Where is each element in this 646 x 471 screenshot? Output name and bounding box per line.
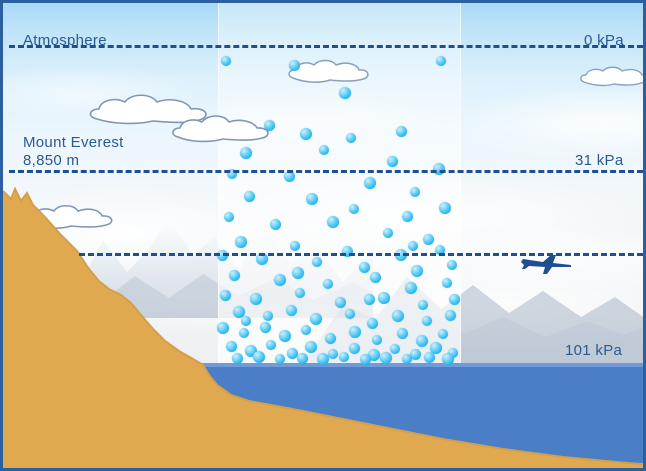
air-molecule-icon <box>402 354 412 364</box>
air-molecule-icon <box>411 265 423 277</box>
air-molecule-icon <box>410 187 420 197</box>
air-molecule-icon <box>253 351 265 363</box>
air-molecule-icon <box>325 333 336 344</box>
air-molecule-icon <box>335 297 346 308</box>
air-molecule-icon <box>364 177 376 189</box>
air-molecule-icon <box>339 352 349 362</box>
air-molecule-icon <box>447 260 457 270</box>
air-molecule-icon <box>317 353 329 365</box>
air-molecule-icon <box>323 279 333 289</box>
air-molecule-icon <box>319 145 329 155</box>
air-molecule-icon <box>392 310 404 322</box>
air-molecule-icon <box>274 274 286 286</box>
air-molecule-icon <box>250 293 262 305</box>
air-molecule-icon <box>416 335 428 347</box>
air-molecule-icon <box>445 310 456 321</box>
air-molecule-icon <box>418 300 428 310</box>
air-molecule-icon <box>436 56 446 66</box>
land-mass <box>3 3 646 471</box>
air-molecule-icon <box>339 87 351 99</box>
air-molecule-icon <box>442 278 452 288</box>
air-molecule-icon <box>372 335 382 345</box>
air-molecule-icon <box>424 352 435 363</box>
air-molecule-icon <box>370 272 381 283</box>
air-molecule-icon <box>422 316 432 326</box>
air-molecule-icon <box>360 354 371 365</box>
reference-line-midaltitude <box>79 253 643 256</box>
air-molecule-icon <box>439 202 451 214</box>
reference-line-31kpa <box>9 170 643 173</box>
air-molecule-icon <box>297 353 308 364</box>
air-molecule-icon <box>300 128 312 140</box>
air-molecule-icon <box>433 163 445 175</box>
air-molecule-icon <box>438 329 448 339</box>
pressure-label-31kpa: 31 kPa <box>575 152 624 169</box>
air-molecule-icon <box>260 322 271 333</box>
air-molecule-icon <box>378 292 390 304</box>
air-molecule-icon <box>217 322 229 334</box>
air-molecule-icon <box>226 341 237 352</box>
air-molecule-icon <box>240 147 252 159</box>
air-molecule-icon <box>423 234 434 245</box>
air-molecule-icon <box>349 326 361 338</box>
pressure-altitude-diagram: Atmosphere Mount Everest 8,850 m 0 kPa 3… <box>0 0 646 471</box>
air-molecule-icon <box>263 311 273 321</box>
air-molecule-icon <box>449 294 460 305</box>
air-molecule-icon <box>301 325 311 335</box>
air-molecule-icon <box>306 193 318 205</box>
air-molecule-icon <box>235 236 247 248</box>
air-molecule-icon <box>290 241 300 251</box>
air-molecule-icon <box>220 290 231 301</box>
air-molecule-icon <box>442 353 454 365</box>
air-molecule-icon <box>264 120 275 131</box>
air-molecule-icon <box>270 219 281 230</box>
air-molecule-icon <box>275 354 285 364</box>
air-molecule-icon <box>232 353 243 364</box>
air-molecule-icon <box>266 340 276 350</box>
air-molecule-icon <box>239 328 249 338</box>
air-molecule-icon <box>312 257 322 267</box>
air-molecule-icon <box>224 212 234 222</box>
air-molecule-icon <box>295 288 305 298</box>
air-molecule-icon <box>221 56 231 66</box>
air-molecule-icon <box>305 341 317 353</box>
air-molecule-icon <box>387 156 398 167</box>
air-molecule-icon <box>310 313 322 325</box>
air-molecule-icon <box>396 126 407 137</box>
air-molecule-icon <box>367 318 378 329</box>
pressure-label-0kpa: 0 kPa <box>584 32 624 49</box>
mount-everest-height-label: 8,850 m <box>23 152 79 169</box>
air-molecule-icon <box>279 330 291 342</box>
air-molecule-icon <box>244 191 255 202</box>
air-molecule-icon <box>397 328 408 339</box>
pressure-label-101kpa: 101 kPa <box>565 342 622 359</box>
air-molecule-icon <box>380 352 392 364</box>
air-molecule-icon <box>346 133 356 143</box>
air-molecule-icon <box>287 348 298 359</box>
air-molecule-icon <box>345 309 355 319</box>
air-molecule-icon <box>402 211 413 222</box>
air-molecule-icon <box>349 343 360 354</box>
atmosphere-label: Atmosphere <box>23 32 107 49</box>
air-molecule-icon <box>286 305 297 316</box>
air-molecule-icon <box>359 262 370 273</box>
air-molecule-icon <box>364 294 375 305</box>
airplane-icon <box>521 253 575 275</box>
air-molecule-icon <box>241 316 251 326</box>
air-molecule-icon <box>408 241 418 251</box>
air-molecule-icon <box>327 216 339 228</box>
air-molecule-icon <box>292 267 304 279</box>
air-molecule-icon <box>390 344 400 354</box>
air-molecule-icon <box>289 60 300 71</box>
mount-everest-label: Mount Everest <box>23 134 124 151</box>
air-molecule-icon <box>229 270 240 281</box>
air-molecule-icon <box>328 349 338 359</box>
air-molecule-icon <box>383 228 393 238</box>
air-molecule-icon <box>405 282 417 294</box>
air-molecule-icon <box>349 204 359 214</box>
